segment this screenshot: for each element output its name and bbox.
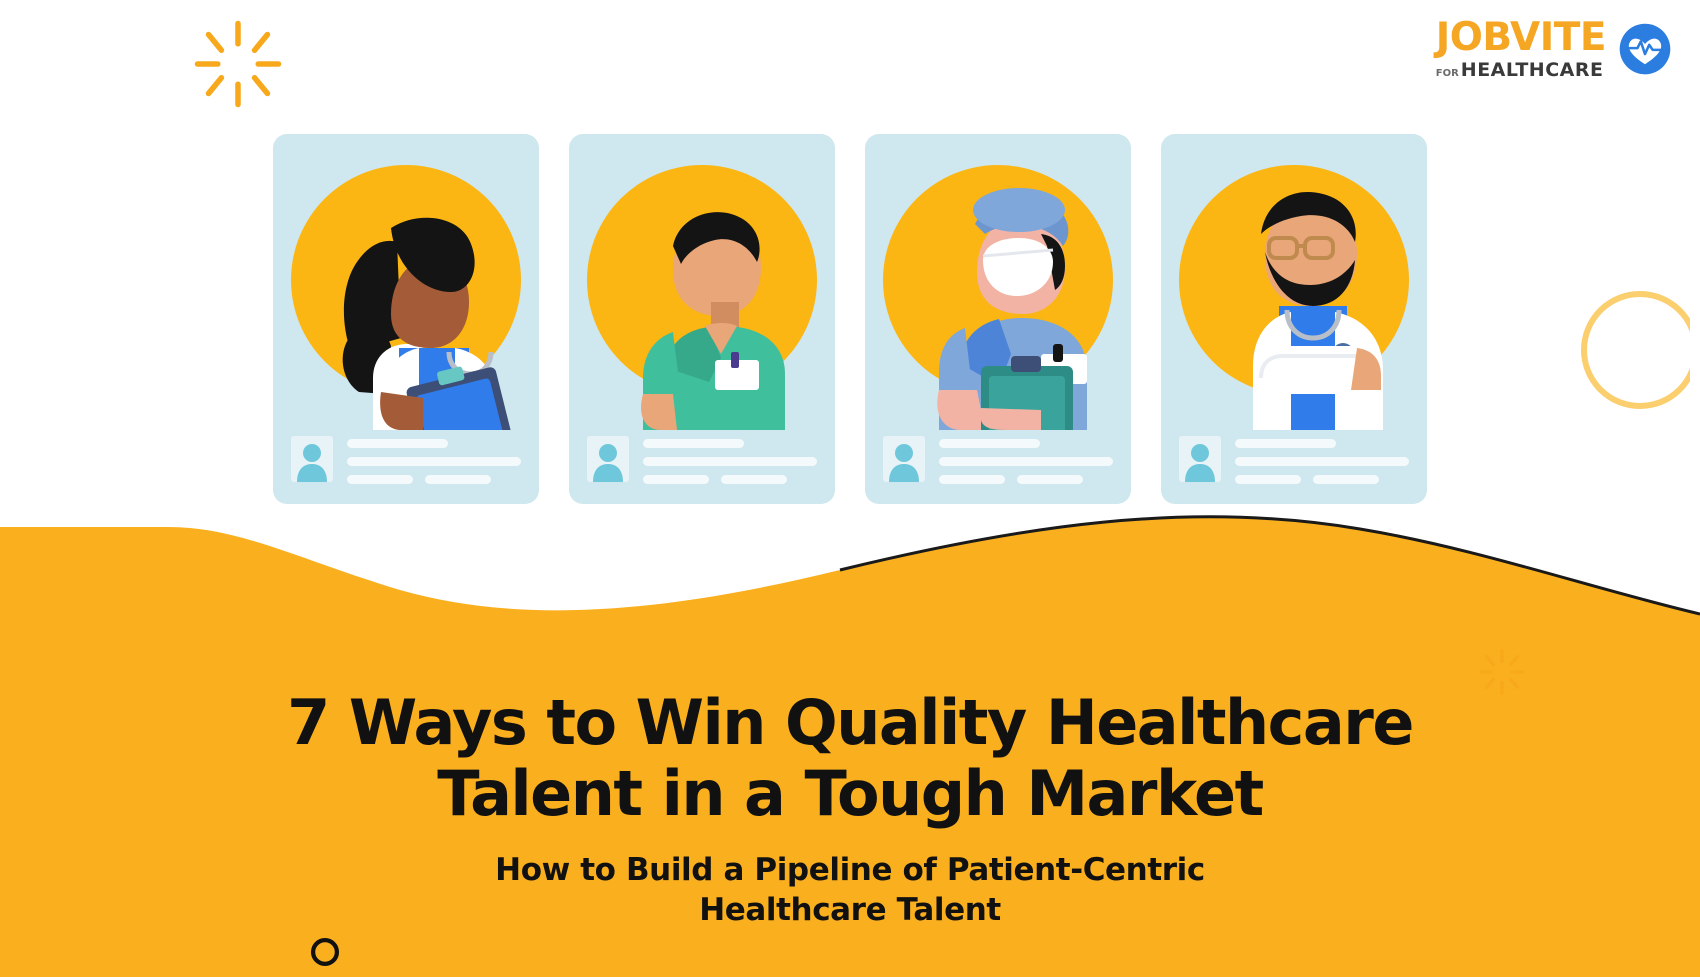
page-subtitle: How to Build a Pipeline of Patient-Centr… (440, 851, 1260, 930)
placeholder-bar (1017, 475, 1083, 484)
portrait-illustration-masked-surgeon (865, 142, 1131, 430)
logo-wordmark: JOBVITE (1436, 18, 1606, 57)
healthcare-worker-card-1[interactable] (273, 134, 539, 504)
card-meta-row (1179, 436, 1409, 484)
card-meta-row (587, 436, 817, 484)
placeholder-bar (643, 457, 817, 466)
heart-pulse-icon (1618, 22, 1672, 76)
meta-text-placeholders (347, 436, 521, 484)
presentation-slide: JOBVITE FOR HEALTHCARE (0, 0, 1700, 977)
wave-accent-line (840, 517, 1700, 614)
page-title-line-1: 7 Ways to Win Quality Healthcare (260, 688, 1440, 759)
healthcare-worker-card-2[interactable] (569, 134, 835, 504)
placeholder-bar (939, 475, 1005, 484)
avatar-placeholder-icon (883, 436, 925, 482)
logo-subtitle-main: HEALTHCARE (1461, 61, 1604, 80)
placeholder-bar (1235, 439, 1336, 448)
logo-text: JOBVITE FOR HEALTHCARE (1436, 18, 1606, 80)
meta-text-placeholders (939, 436, 1113, 484)
portrait-illustration-male-nurse (569, 142, 835, 430)
placeholder-bar (347, 475, 413, 484)
placeholder-bar (1235, 457, 1409, 466)
placeholder-bar (425, 475, 491, 484)
ring-bottom-left-decoration (308, 935, 342, 969)
sparkle-top-left-icon (192, 18, 284, 110)
card-meta-row (883, 436, 1113, 484)
portrait-illustration-bearded-doctor (1161, 142, 1427, 430)
placeholder-bar (347, 439, 448, 448)
placeholder-bar (1235, 475, 1301, 484)
page-subtitle-line-1: How to Build a Pipeline of Patient-Centr… (440, 851, 1260, 891)
page-title: 7 Ways to Win Quality Healthcare Talent … (260, 688, 1440, 829)
placeholder-bar (347, 457, 521, 466)
meta-text-placeholders (643, 436, 817, 484)
healthcare-worker-card-4[interactable] (1161, 134, 1427, 504)
page-title-line-2: Talent in a Tough Market (260, 759, 1440, 830)
logo-subtitle-prefix: FOR (1436, 69, 1459, 79)
avatar-placeholder-icon (587, 436, 629, 482)
placeholder-bar (939, 439, 1040, 448)
avatar-placeholder-icon (291, 436, 333, 482)
meta-text-placeholders (1235, 436, 1409, 484)
placeholder-bar (1313, 475, 1379, 484)
card-meta-row (291, 436, 521, 484)
logo-subtitle: FOR HEALTHCARE (1436, 61, 1604, 80)
placeholder-bar (939, 457, 1113, 466)
page-subtitle-line-2: Healthcare Talent (440, 891, 1260, 931)
portrait-illustration-female-doctor (273, 142, 539, 430)
jobvite-healthcare-logo[interactable]: JOBVITE FOR HEALTHCARE (1436, 18, 1672, 80)
placeholder-bar (643, 439, 744, 448)
healthcare-worker-card-row (0, 134, 1700, 504)
avatar-placeholder-icon (1179, 436, 1221, 482)
placeholder-bar (643, 475, 709, 484)
placeholder-bar (721, 475, 787, 484)
healthcare-worker-card-3[interactable] (865, 134, 1131, 504)
headline-block: 7 Ways to Win Quality Healthcare Talent … (0, 688, 1700, 931)
